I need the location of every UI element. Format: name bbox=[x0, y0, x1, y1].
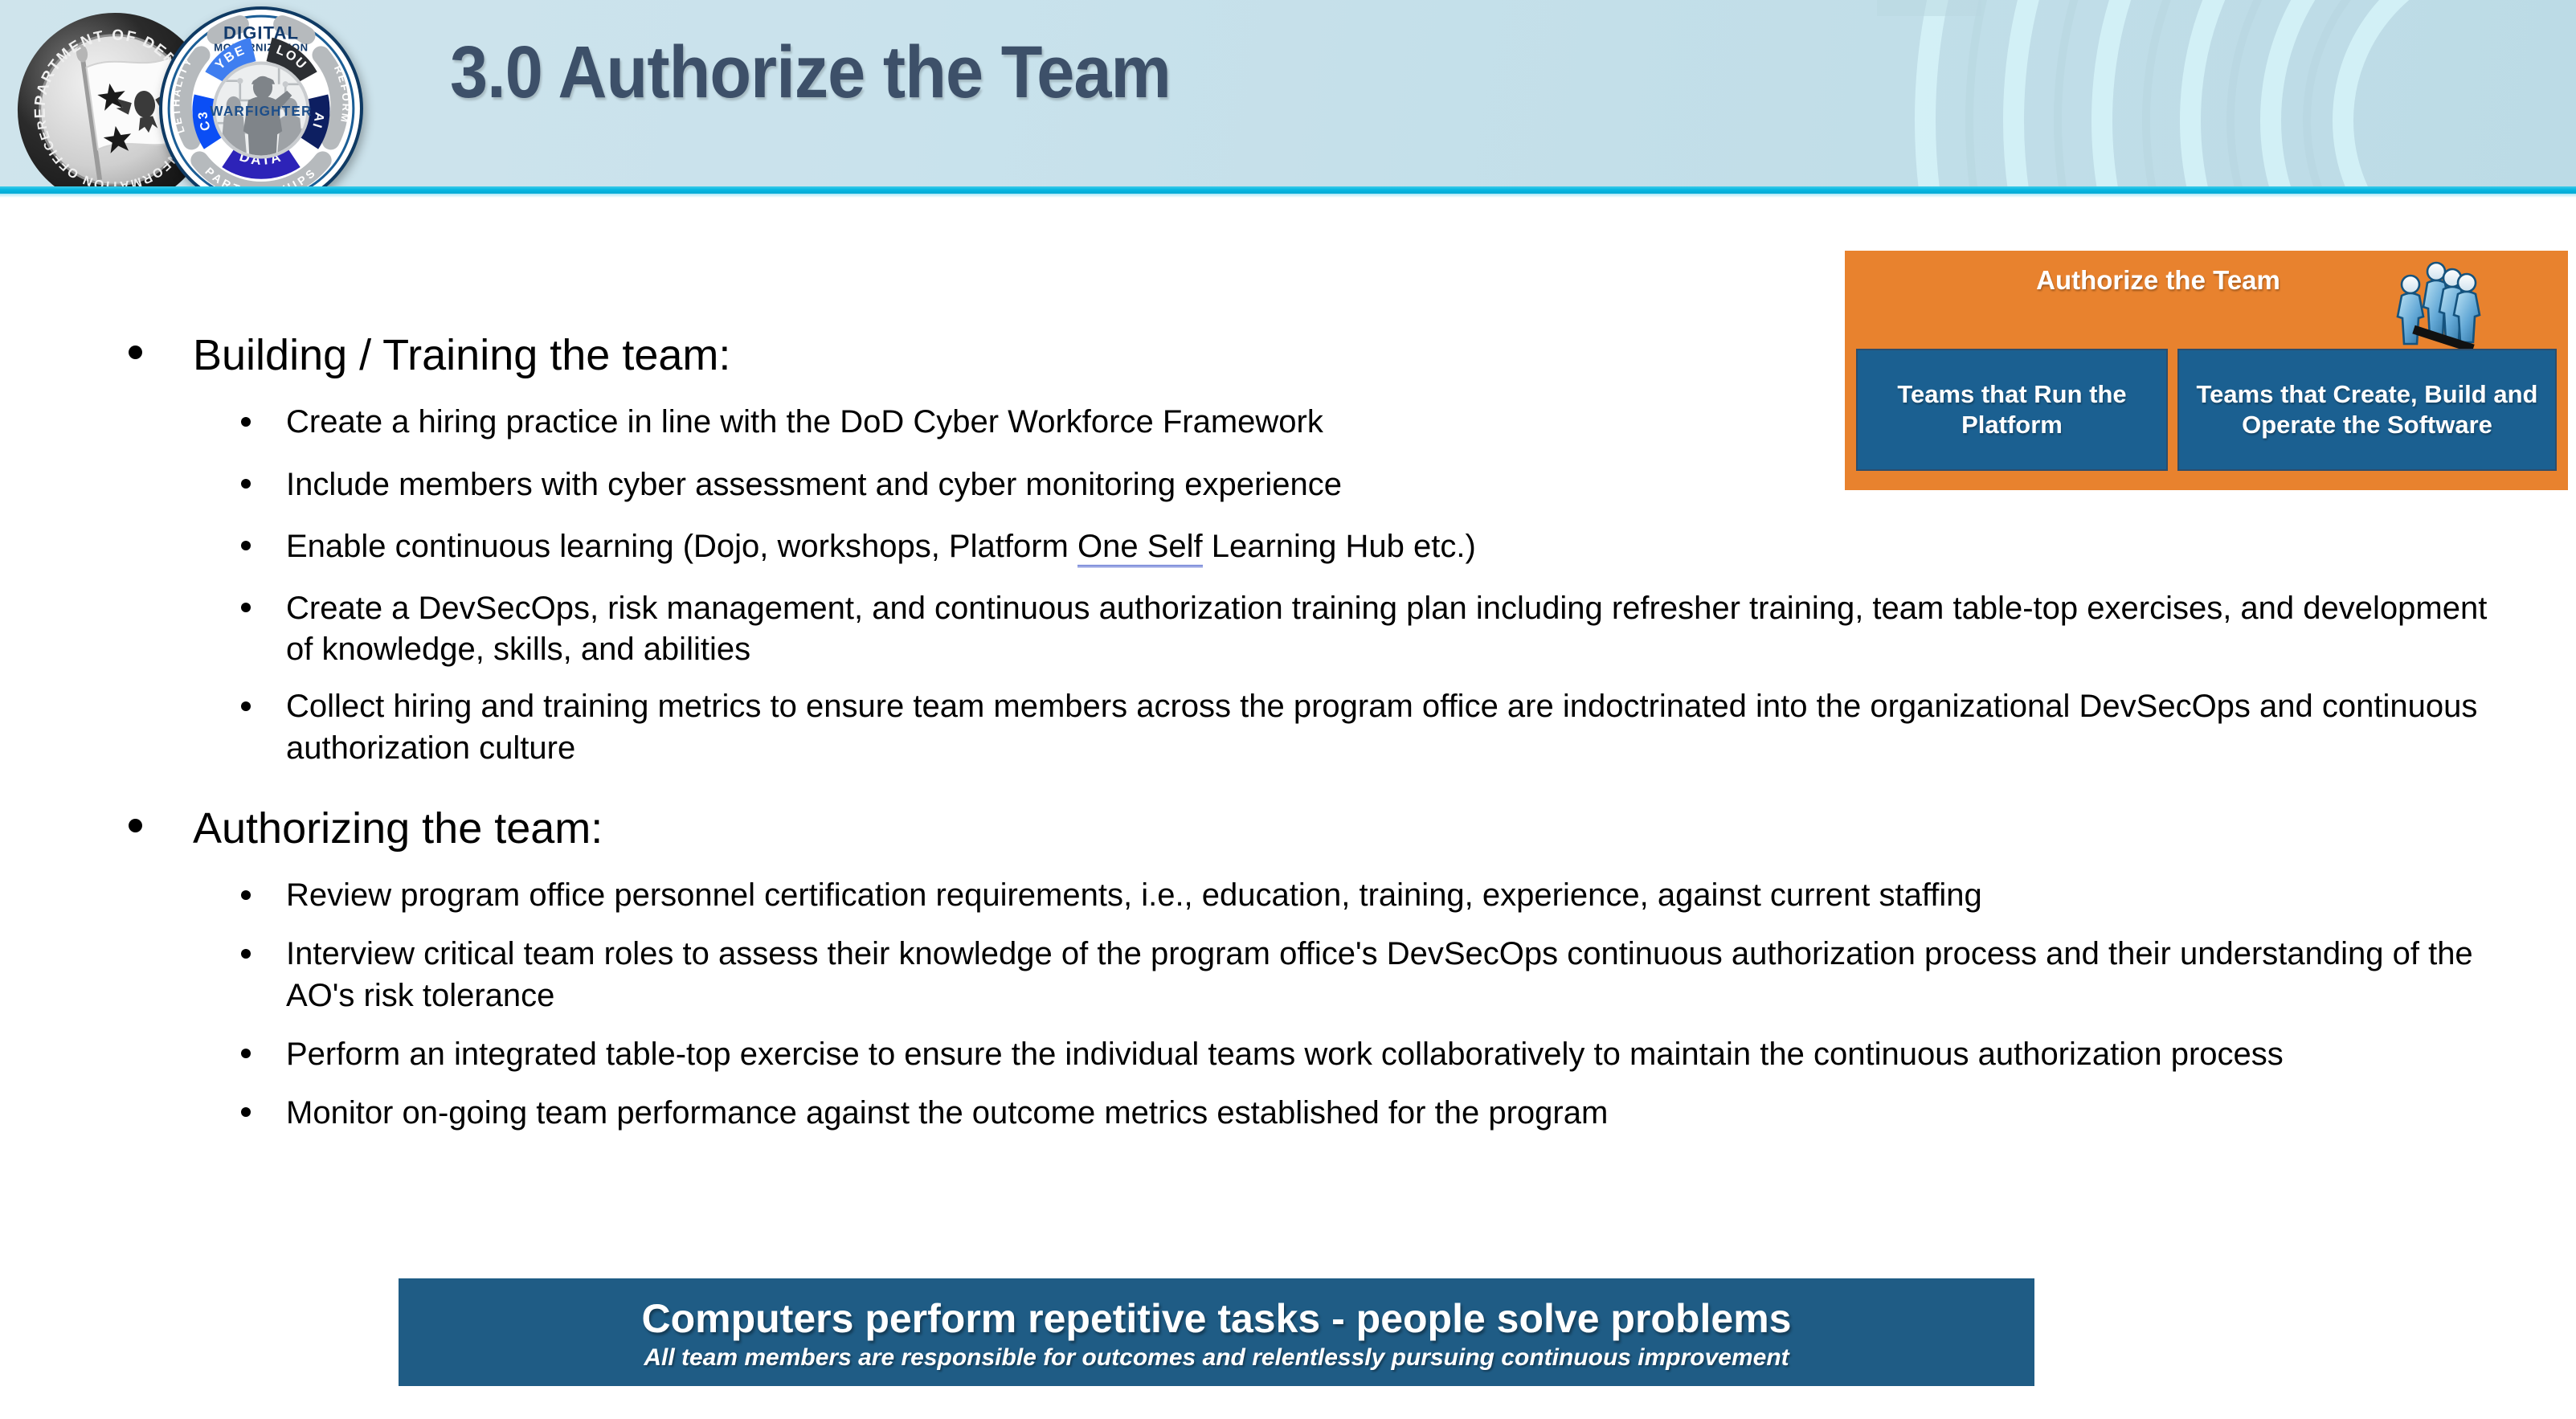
footer-banner-headline: Computers perform repetitive tasks - peo… bbox=[642, 1298, 1792, 1339]
list-item-text: Create a DevSecOps, risk management, and… bbox=[286, 591, 2487, 667]
bullet-dot-icon bbox=[241, 1049, 251, 1058]
list-item-text: Review program office personnel certific… bbox=[286, 877, 1982, 913]
list-item-text: Include members with cyber assessment an… bbox=[286, 467, 1342, 502]
bullet-dot-icon bbox=[241, 603, 251, 612]
header-circuit-arcs-decoration bbox=[1724, 0, 2576, 193]
list-item: Include members with cyber assessment an… bbox=[0, 464, 2576, 505]
digital-modernization-seal: LETHALITY REFORM PARTNERSHIPS DIGITAL MO… bbox=[156, 3, 366, 193]
page-title: 3.0 Authorize the Team bbox=[450, 35, 1171, 109]
bullet-dot-icon bbox=[241, 949, 251, 959]
footer-banner-subtext: All team members are responsible for out… bbox=[644, 1344, 1789, 1371]
list-item-text-post: Learning Hub etc.) bbox=[1203, 529, 1476, 564]
group-heading-text: Authorizing the team: bbox=[193, 804, 603, 853]
list-item-text-pre: Enable continuous learning (Dojo, worksh… bbox=[286, 529, 1077, 564]
bullet-dot-icon bbox=[129, 346, 142, 359]
list-item: Perform an integrated table-top exercise… bbox=[0, 1034, 2576, 1075]
one-self-hyperlink[interactable]: One Self bbox=[1077, 529, 1203, 567]
svg-text:WARFIGHTER: WARFIGHTER bbox=[210, 103, 312, 119]
list-item: Monitor on-going team performance agains… bbox=[0, 1093, 2576, 1134]
slide-body: Building / Training the team: Create a h… bbox=[0, 193, 2576, 1134]
list-item: Create a hiring practice in line with th… bbox=[0, 402, 2576, 443]
svg-text:DIGITAL: DIGITAL bbox=[223, 22, 299, 43]
bullet-dot-icon bbox=[241, 890, 251, 900]
bullet-dot-icon bbox=[241, 479, 251, 489]
list-item: Create a DevSecOps, risk management, and… bbox=[0, 588, 2576, 670]
list-item-text: Interview critical team roles to assess … bbox=[286, 936, 2473, 1012]
bullet-dot-icon bbox=[241, 541, 251, 550]
group-heading-text: Building / Training the team: bbox=[193, 331, 730, 379]
bullet-dot-icon bbox=[241, 701, 251, 711]
list-item-text: Create a hiring practice in line with th… bbox=[286, 404, 1323, 440]
list-item-text: Monitor on-going team performance agains… bbox=[286, 1095, 1608, 1131]
list-item: Collect hiring and training metrics to e… bbox=[0, 686, 2576, 768]
bullet-dot-icon bbox=[129, 819, 142, 832]
footer-banner: Computers perform repetitive tasks - peo… bbox=[399, 1278, 2034, 1386]
list-item: Enable continuous learning (Dojo, worksh… bbox=[0, 526, 2576, 567]
bullet-dot-icon bbox=[241, 1107, 251, 1117]
slide-header: DEPARTMENT OF DEFENSE CHIEF INFORMATION … bbox=[0, 0, 2576, 193]
content-group-building-training: Building / Training the team: Create a h… bbox=[0, 331, 2576, 769]
content-group-authorizing: Authorizing the team: Review program off… bbox=[0, 804, 2576, 1134]
group-heading: Building / Training the team: bbox=[0, 331, 2576, 379]
list-item-text: Collect hiring and training metrics to e… bbox=[286, 689, 2477, 765]
list-item: Interview critical team roles to assess … bbox=[0, 934, 2576, 1016]
list-item-text: Perform an integrated table-top exercise… bbox=[286, 1037, 2284, 1072]
group-heading: Authorizing the team: bbox=[0, 804, 2576, 853]
list-item: Review program office personnel certific… bbox=[0, 875, 2576, 916]
bullet-dot-icon bbox=[241, 417, 251, 427]
